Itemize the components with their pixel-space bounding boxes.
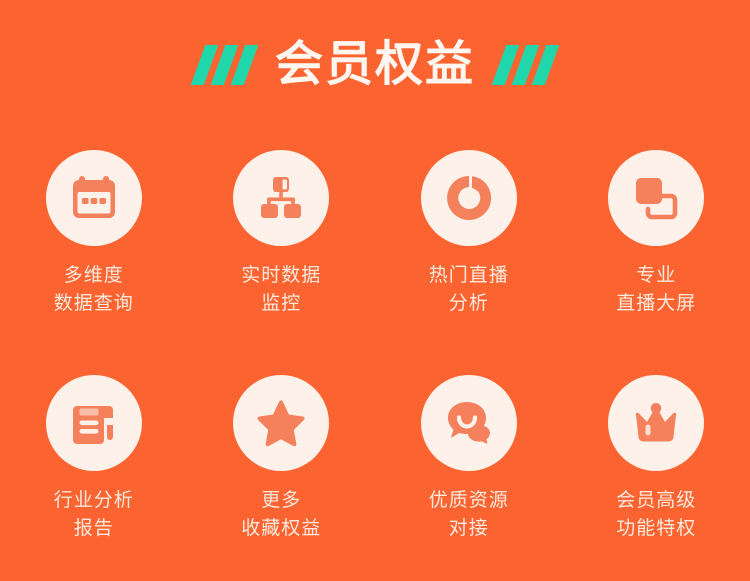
benefit-item-hot-live-analysis[interactable]: 热门直播 分析: [375, 150, 563, 317]
page-title: 会员权益: [275, 41, 475, 89]
benefit-label: 实时数据 监控: [241, 262, 321, 317]
benefit-icon-circle: [421, 150, 517, 246]
benefit-label-line2: 监控: [241, 290, 321, 318]
benefit-item-quality-resource-matching[interactable]: 优质资源 对接: [375, 375, 563, 542]
benefit-label: 行业分析 报告: [54, 487, 134, 542]
benefit-label: 热门直播 分析: [429, 262, 509, 317]
benefit-item-advanced-member-privileges[interactable]: 会员高级 功能特权: [563, 375, 750, 542]
benefit-label-line1: 行业分析: [54, 490, 134, 511]
benefit-label: 多维度 数据查询: [54, 262, 134, 317]
benefit-label-line1: 多维度: [64, 265, 124, 286]
crown-icon: [630, 397, 682, 449]
benefit-label-line2: 收藏权益: [241, 515, 321, 543]
donut-chart-icon: [443, 172, 495, 224]
benefit-label-line2: 直播大屏: [616, 290, 696, 318]
benefit-label-line2: 报告: [54, 515, 134, 543]
benefit-label-line2: 分析: [429, 290, 509, 318]
benefit-item-more-favorites[interactable]: 更多 收藏权益: [188, 375, 376, 542]
benefit-item-professional-live-screen[interactable]: 专业 直播大屏: [563, 150, 750, 317]
sitemap-icon: [255, 172, 307, 224]
screens-icon: [630, 172, 682, 224]
banner-header: 会员权益: [0, 32, 750, 98]
benefit-label-line1: 热门直播: [429, 265, 509, 286]
benefits-grid: 多维度 数据查询 实时数据 监控: [0, 150, 750, 542]
member-benefits-banner: 会员权益 多维度 数据查询: [0, 0, 750, 581]
slash-decoration-right-icon: [499, 45, 552, 85]
chat-bubbles-icon: [443, 397, 495, 449]
slash-decoration-left-icon: [198, 45, 251, 85]
benefit-label: 优质资源 对接: [429, 487, 509, 542]
benefit-label: 更多 收藏权益: [241, 487, 321, 542]
benefit-item-multi-dimension-query[interactable]: 多维度 数据查询: [0, 150, 188, 317]
report-scroll-icon: [68, 397, 120, 449]
star-icon: [255, 397, 307, 449]
calendar-icon: [68, 172, 120, 224]
benefit-label-line2: 对接: [429, 515, 509, 543]
benefit-label: 会员高级 功能特权: [616, 487, 696, 542]
benefit-label-line1: 优质资源: [429, 490, 509, 511]
benefit-label-line1: 更多: [261, 490, 301, 511]
benefit-item-industry-report[interactable]: 行业分析 报告: [0, 375, 188, 542]
benefit-icon-circle: [46, 150, 142, 246]
benefit-label-line2: 功能特权: [616, 515, 696, 543]
benefit-label-line1: 会员高级: [616, 490, 696, 511]
benefit-item-realtime-monitoring[interactable]: 实时数据 监控: [188, 150, 376, 317]
benefit-label-line2: 数据查询: [54, 290, 134, 318]
benefit-icon-circle: [233, 150, 329, 246]
benefit-icon-circle: [233, 375, 329, 471]
benefit-icon-circle: [46, 375, 142, 471]
benefit-icon-circle: [421, 375, 517, 471]
benefit-label-line1: 实时数据: [241, 265, 321, 286]
benefit-label-line1: 专业: [636, 265, 676, 286]
benefit-icon-circle: [608, 150, 704, 246]
benefit-icon-circle: [608, 375, 704, 471]
benefit-label: 专业 直播大屏: [616, 262, 696, 317]
